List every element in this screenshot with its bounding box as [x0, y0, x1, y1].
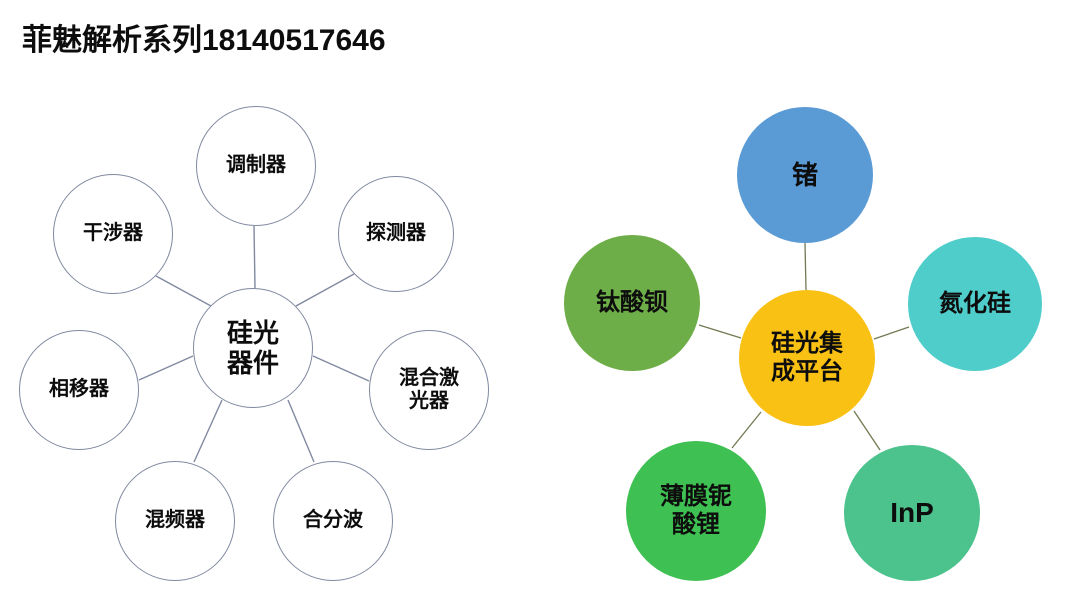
node-label: 薄膜铌 酸锂 — [654, 483, 738, 539]
node-detector[interactable]: 探测器 — [338, 176, 454, 292]
node-label: 硅光集 成平台 — [765, 330, 849, 386]
edge-center-to-modulator — [254, 226, 255, 288]
node-barium-titanate[interactable]: 钛酸钡 — [564, 235, 700, 371]
edge-center-to-interferometer — [156, 276, 211, 306]
node-mixer[interactable]: 混频器 — [115, 461, 235, 581]
node-label: 混合激 光器 — [393, 367, 465, 413]
node-label: 氮化硅 — [933, 290, 1017, 318]
node-mux-demux[interactable]: 合分波 — [273, 461, 393, 581]
node-label: 合分波 — [297, 509, 369, 532]
edge-center-to-thin-film-linbo3 — [732, 412, 761, 448]
node-label: 探测器 — [360, 222, 432, 245]
node-label: 混频器 — [139, 509, 211, 532]
node-label: 相移器 — [43, 378, 115, 401]
edge-center-to-barium-titanate — [699, 325, 741, 338]
diagram-silicon-photonic-devices: 硅光 器件 调制器 干涉器 探测器 相移器 混合激 光器 混频器 合分波 — [0, 0, 545, 607]
node-hybrid-laser[interactable]: 混合激 光器 — [369, 330, 489, 450]
node-label: InP — [884, 497, 940, 529]
node-germanium[interactable]: 锗 — [737, 107, 873, 243]
node-interferometer[interactable]: 干涉器 — [53, 174, 173, 294]
edge-center-to-germanium — [805, 243, 806, 290]
edge-center-to-phase-shifter — [139, 356, 193, 380]
edge-center-to-mixer — [194, 400, 222, 462]
edge-center-to-detector — [296, 274, 354, 306]
node-label: 调制器 — [220, 154, 292, 177]
node-center-silicon-photonic-devices[interactable]: 硅光 器件 — [193, 288, 313, 408]
node-label: 钛酸钡 — [590, 289, 674, 317]
node-label: 锗 — [786, 160, 824, 190]
node-modulator[interactable]: 调制器 — [196, 106, 316, 226]
edge-center-to-inp — [854, 411, 880, 450]
node-label: 硅光 器件 — [221, 318, 285, 378]
node-thin-film-lithium-niobate[interactable]: 薄膜铌 酸锂 — [626, 441, 766, 581]
node-label: 干涉器 — [77, 222, 149, 245]
node-center-integration-platform[interactable]: 硅光集 成平台 — [739, 290, 875, 426]
edge-center-to-mux-demux — [288, 400, 314, 462]
edge-center-to-hybrid-laser — [313, 356, 369, 381]
node-silicon-nitride[interactable]: 氮化硅 — [908, 237, 1042, 371]
diagram-silicon-photonic-integration-platform: 锗 钛酸钡 氮化硅 硅光集 成平台 薄膜铌 酸锂 InP — [545, 0, 1080, 607]
node-inp[interactable]: InP — [844, 445, 980, 581]
edge-center-to-silicon-nitride — [874, 327, 909, 339]
node-phase-shifter[interactable]: 相移器 — [19, 330, 139, 450]
